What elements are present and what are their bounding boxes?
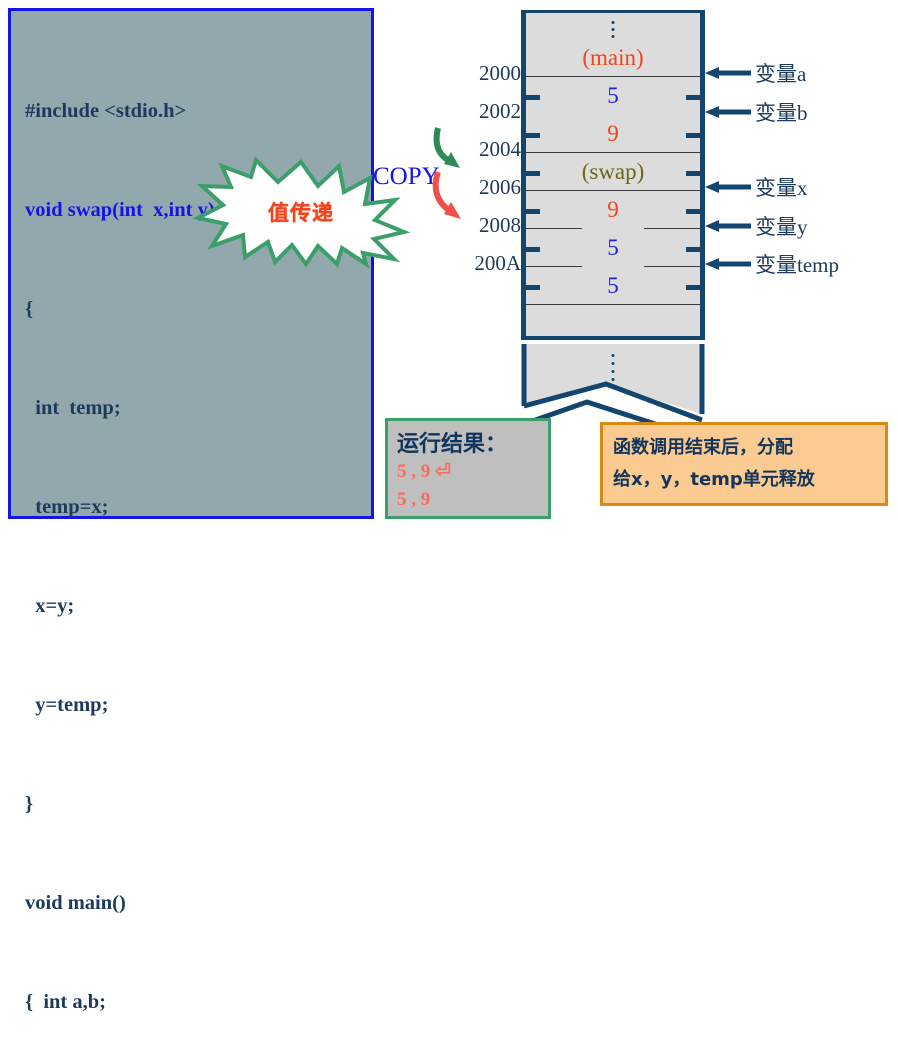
code-line: void main() <box>25 887 367 920</box>
result-output-line-2: 5 , 9 <box>397 489 430 511</box>
address-column: 2000 2002 2004 2006 2008 200A <box>443 0 521 330</box>
note-line-2: 给x，y，temp单元释放 <box>613 465 815 491</box>
variable-pointer-x: 变量x <box>705 174 808 200</box>
code-line: } <box>25 788 367 821</box>
variable-label: 变量a <box>755 58 806 88</box>
memory-cell-value: 5 <box>607 235 619 261</box>
memory-cell-swap: (swap) <box>526 153 700 191</box>
memory-cell-value: (swap) <box>582 159 645 185</box>
note-box: 函数调用结束后，分配 给x，y，temp单元释放 <box>600 422 888 506</box>
left-arrow-icon <box>705 257 753 271</box>
memory-cell-value: (main) <box>582 45 643 71</box>
memory-block: (main) 5 9 (swap) <box>521 10 705 340</box>
memory-cell-value: 9 <box>607 121 619 147</box>
left-arrow-icon <box>705 105 753 119</box>
memory-cell-x: 9 <box>526 191 700 229</box>
code-line: temp=x; <box>25 491 367 524</box>
address-label: 2006 <box>443 177 521 198</box>
variable-pointer-y: 变量y <box>705 213 808 239</box>
note-line-1: 函数调用结束后，分配 <box>613 433 793 459</box>
left-arrow-icon <box>705 180 753 194</box>
variable-pointer-b: 变量b <box>705 99 808 125</box>
code-line: x=y; <box>25 590 367 623</box>
copy-label: COPY <box>373 163 440 191</box>
variable-label: 变量b <box>755 97 808 127</box>
variable-label-column: 变量a 变量b 变量x 变量y <box>705 0 898 330</box>
memory-cell-main: (main) <box>526 39 700 77</box>
result-title: 运行结果： <box>397 426 507 458</box>
address-label: 2004 <box>443 139 521 160</box>
address-label: 2008 <box>443 215 521 236</box>
variable-label: 变量x <box>755 172 808 202</box>
code-line: { int a,b; <box>25 986 367 1019</box>
left-arrow-icon <box>705 66 753 80</box>
memory-cell-b: 9 <box>526 115 700 153</box>
code-line: int temp; <box>25 392 367 425</box>
result-output-line-1: 5 , 9 ⏎ <box>397 460 451 483</box>
memory-cell-value: 5 <box>607 273 619 299</box>
address-label: 200A <box>443 253 521 274</box>
memory-cell-a: 5 <box>526 77 700 115</box>
memory-top-ellipsis <box>612 21 615 38</box>
variable-pointer-a: 变量a <box>705 60 806 86</box>
code-line: { <box>25 293 367 326</box>
variable-label: 变量y <box>755 211 808 241</box>
address-label: 2000 <box>443 63 521 84</box>
code-line: y=temp; <box>25 689 367 722</box>
variable-pointer-temp: 变量temp <box>705 251 839 277</box>
code-line: #include <stdio.h> <box>25 95 367 128</box>
left-arrow-icon <box>705 219 753 233</box>
variable-label: 变量temp <box>755 249 839 279</box>
memory-cell-value: 9 <box>607 197 619 223</box>
address-label: 2002 <box>443 101 521 122</box>
memory-cell-y: 5 <box>526 229 700 267</box>
memory-cell-temp: 5 <box>526 267 700 305</box>
memory-cell-value: 5 <box>607 83 619 109</box>
result-box: 运行结果： 5 , 9 ⏎ 5 , 9 <box>385 418 551 519</box>
